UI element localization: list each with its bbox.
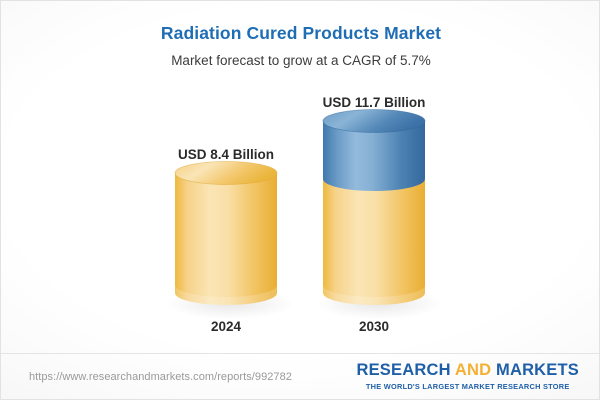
bar-cylinder-2024[interactable] xyxy=(174,161,278,306)
brand-wordmark-research: RESEARCH xyxy=(356,361,454,379)
brand-logo[interactable]: RESEARCH AND MARKETS THE WORLD'S LARGEST… xyxy=(356,362,579,390)
brand-wordmark-and: AND xyxy=(455,361,491,379)
chart-card: Radiation Cured Products Market Market f… xyxy=(0,0,600,400)
brand-wordmark-markets: MARKETS xyxy=(491,361,579,379)
plot-area: USD 8.4 Billion xyxy=(1,1,600,351)
bar-value-label-2030: USD 11.7 Billion xyxy=(264,95,484,110)
bar-value-label-2024: USD 8.4 Billion xyxy=(116,147,336,162)
bar-cylinder-2030[interactable] xyxy=(322,109,426,306)
footer-divider xyxy=(1,353,600,354)
brand-wordmark: RESEARCH AND MARKETS xyxy=(356,362,579,379)
brand-tagline: THE WORLD'S LARGEST MARKET RESEARCH STOR… xyxy=(356,383,579,390)
report-url[interactable]: https://www.researchandmarkets.com/repor… xyxy=(29,371,292,383)
bar-category-label-2030: 2030 xyxy=(264,319,484,334)
